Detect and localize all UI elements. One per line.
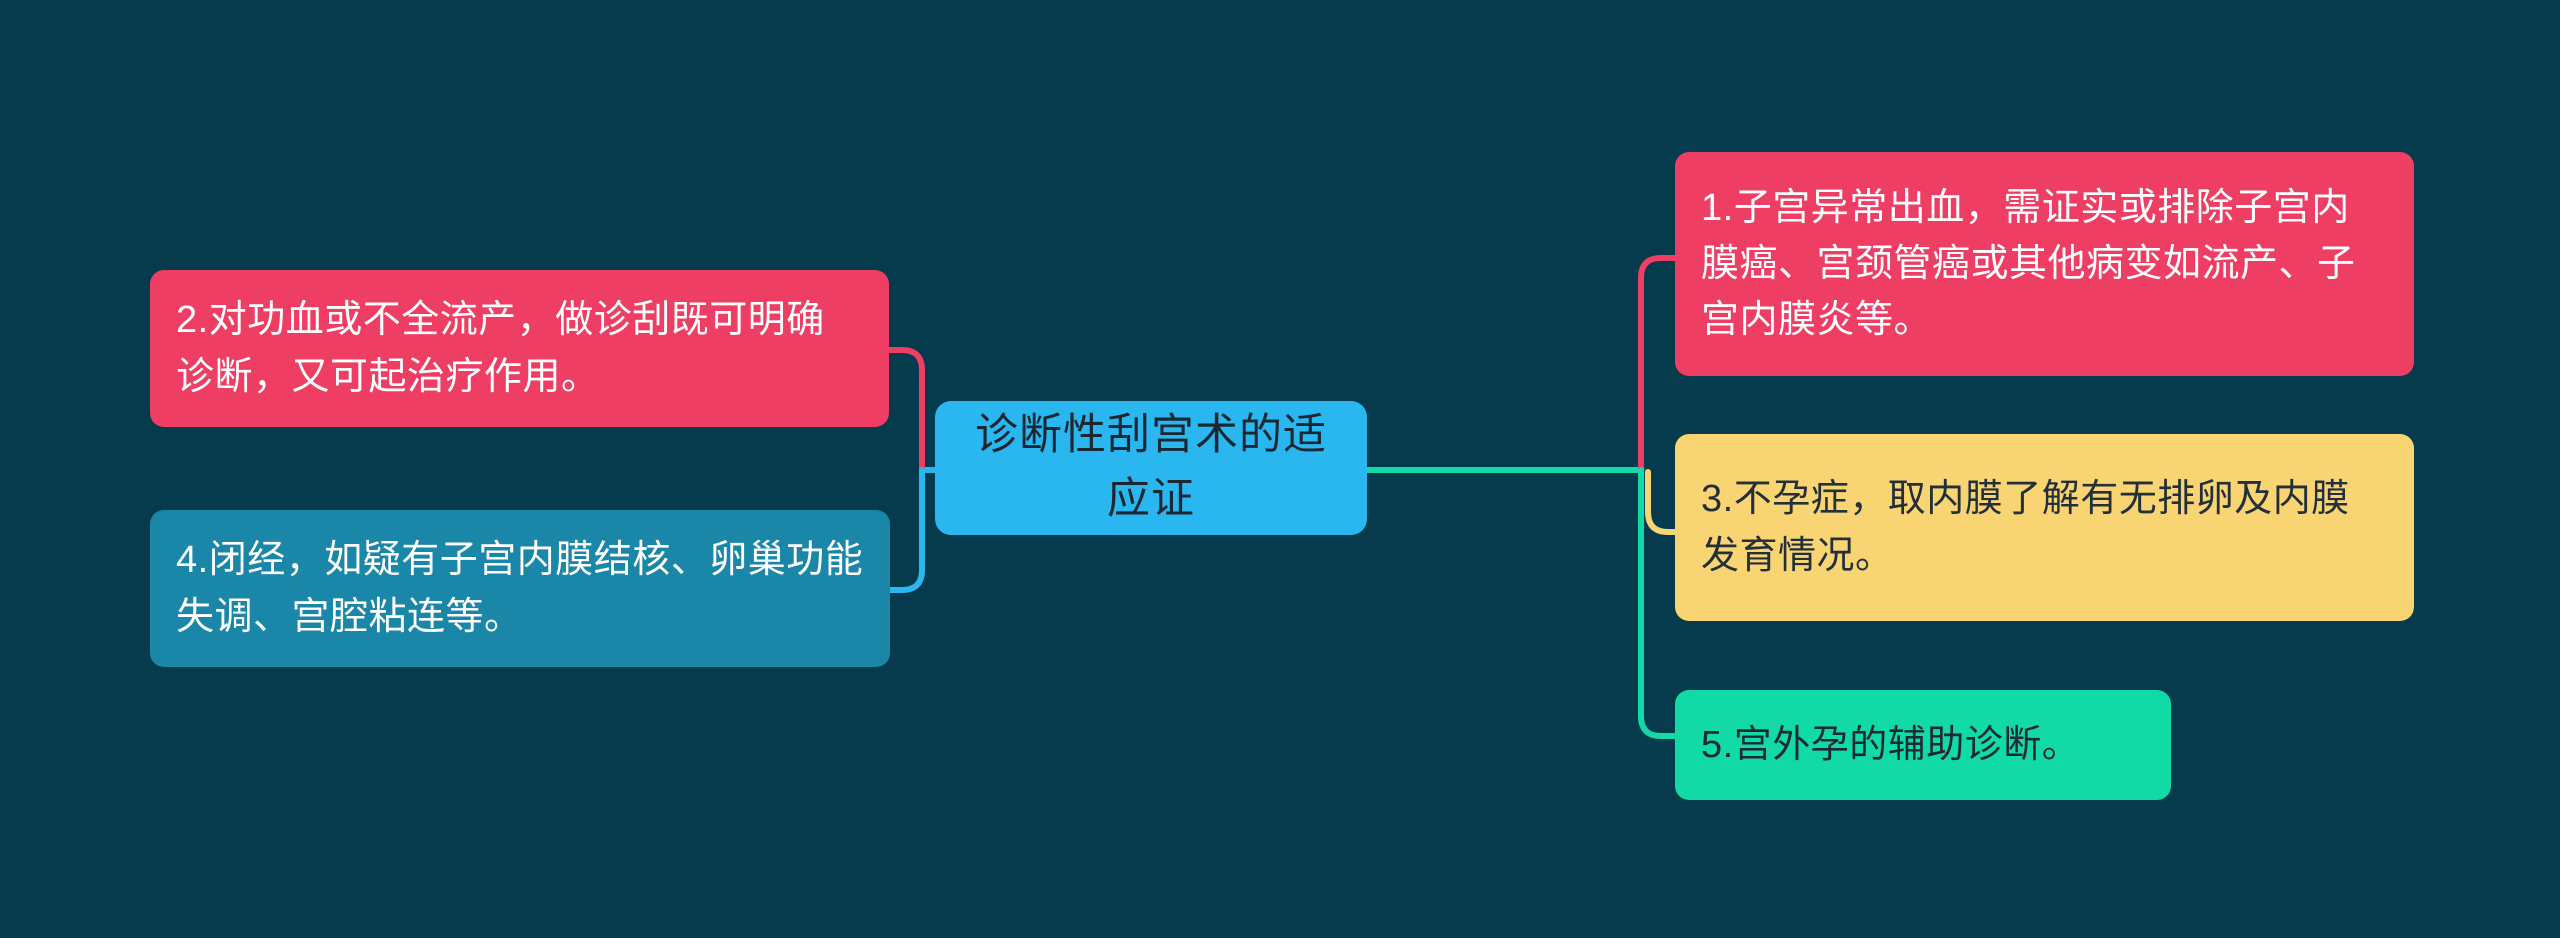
connector-to-branch-5 (1641, 470, 1678, 736)
mindmap-node-branch-5[interactable]: 5.宫外孕的辅助诊断。 (1675, 690, 2171, 800)
mindmap-node-branch-4-label: 4.闭经，如疑有子宫内膜结核、卵巢功能失调、宫腔粘连等。 (176, 532, 864, 644)
mindmap-node-branch-3[interactable]: 3.不孕症，取内膜了解有无排卵及内膜发育情况。 (1675, 434, 2414, 621)
mindmap-root-node[interactable]: 诊断性刮宫术的适应证 (935, 401, 1367, 535)
connector-to-branch-3 (1648, 472, 1678, 532)
mindmap-node-branch-4[interactable]: 4.闭经，如疑有子宫内膜结核、卵巢功能失调、宫腔粘连等。 (150, 510, 890, 667)
mindmap-node-branch-1[interactable]: 1.子宫异常出血，需证实或排除子宫内膜癌、宫颈管癌或其他病变如流产、子宫内膜炎等… (1675, 152, 2414, 376)
mindmap-root-label: 诊断性刮宫术的适应证 (961, 404, 1341, 531)
mindmap-node-branch-1-label: 1.子宫异常出血，需证实或排除子宫内膜癌、宫颈管癌或其他病变如流产、子宫内膜炎等… (1701, 180, 2388, 349)
mindmap-node-branch-2[interactable]: 2.对功血或不全流产，做诊刮既可明确诊断，又可起治疗作用。 (150, 270, 889, 427)
mindmap-node-branch-5-label: 5.宫外孕的辅助诊断。 (1701, 717, 2145, 773)
connector-to-branch-4 (886, 470, 922, 590)
connector-to-branch-2 (886, 350, 922, 470)
mindmap-node-branch-3-label: 3.不孕症，取内膜了解有无排卵及内膜发育情况。 (1701, 471, 2388, 583)
connector-to-branch-1 (1641, 258, 1678, 470)
mindmap-canvas: 诊断性刮宫术的适应证 1.子宫异常出血，需证实或排除子宫内膜癌、宫颈管癌或其他病… (0, 0, 2560, 938)
mindmap-node-branch-2-label: 2.对功血或不全流产，做诊刮既可明确诊断，又可起治疗作用。 (176, 292, 863, 404)
